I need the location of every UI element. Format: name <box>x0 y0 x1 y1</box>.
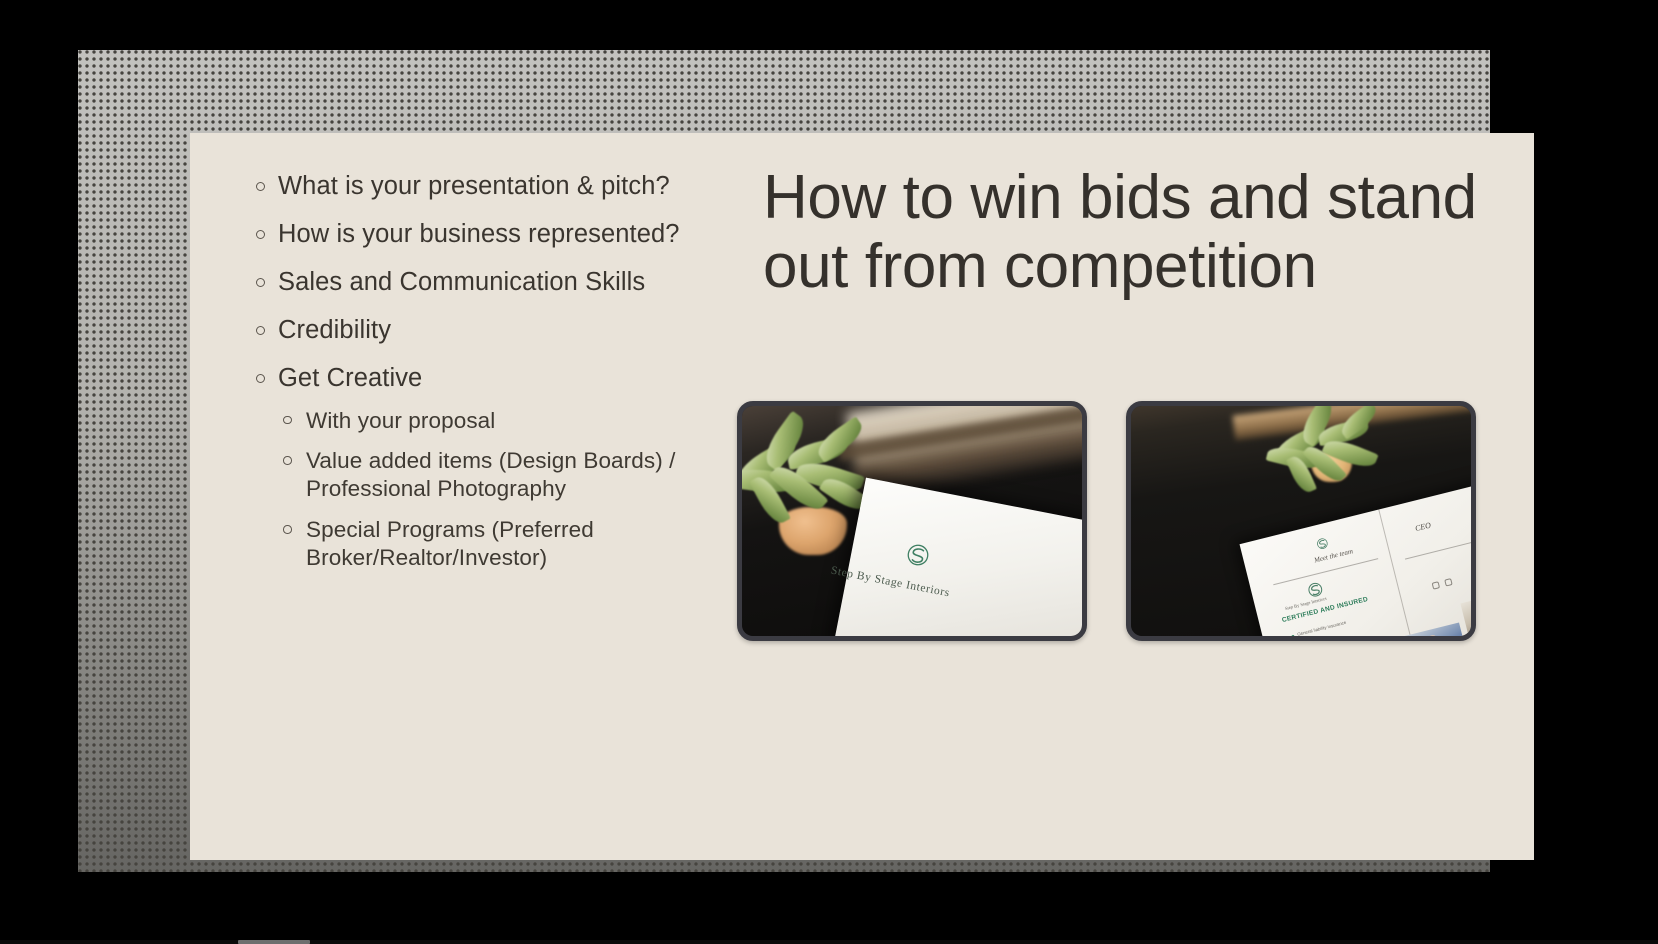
bullet-item: What is your presentation & pitch? <box>250 171 762 202</box>
folder-photo: Step By Stage Interiors <box>737 401 1087 641</box>
bullet-text: Get Creative <box>278 364 422 392</box>
plant-foliage <box>1267 406 1389 493</box>
bullet-list-level-1: What is your presentation & pitch? How i… <box>250 171 762 572</box>
slide-decorative-frame: What is your presentation & pitch? How i… <box>78 50 1490 872</box>
bullet-list-level-2: With your proposal Value added items (De… <box>278 407 762 572</box>
bullet-item: Get Creative With your proposal Value ad… <box>250 363 762 572</box>
brochure-inset-photo <box>1460 586 1471 636</box>
s-monogram-icon <box>903 539 933 569</box>
bullet-item: Sales and Communication Skills <box>250 267 762 298</box>
bullet-item: How is your business represented? <box>250 219 762 250</box>
presentation-stage: What is your presentation & pitch? How i… <box>0 0 1658 944</box>
sub-bullet-text: Special Programs (Preferred Broker/Realt… <box>306 517 594 570</box>
divider <box>1405 537 1471 560</box>
s-monogram-icon <box>1314 535 1330 551</box>
badge-icon <box>1432 582 1440 590</box>
sub-bullet-text: Value added items (Design Boards) / Prof… <box>306 448 676 501</box>
bullet-text: What is your presentation & pitch? <box>278 172 670 200</box>
brochure-signature: CEO <box>1414 521 1432 534</box>
slideshow-progress-chip[interactable] <box>238 940 310 944</box>
slide-title: How to win bids and stand out from compe… <box>763 163 1483 302</box>
brochure-icon-row <box>1430 557 1471 595</box>
brochure-bullet: General liability insurance <box>1296 620 1346 636</box>
brochure-photo: CEO Meet the team Step By Stage Interior… <box>1126 401 1476 641</box>
slide-canvas: What is your presentation & pitch? How i… <box>190 133 1534 860</box>
sub-bullet-item: Special Programs (Preferred Broker/Realt… <box>278 516 762 572</box>
bullet-list-region: What is your presentation & pitch? How i… <box>250 171 762 589</box>
sub-bullet-item: Value added items (Design Boards) / Prof… <box>278 447 762 503</box>
bullet-text: Credibility <box>278 316 391 344</box>
sub-bullet-item: With your proposal <box>278 407 762 435</box>
sub-bullet-text: With your proposal <box>306 408 495 433</box>
bullet-item: Credibility <box>250 315 762 346</box>
badge-icon <box>1444 579 1452 587</box>
bullet-text: Sales and Communication Skills <box>278 268 645 296</box>
bullet-text: How is your business represented? <box>278 220 680 248</box>
